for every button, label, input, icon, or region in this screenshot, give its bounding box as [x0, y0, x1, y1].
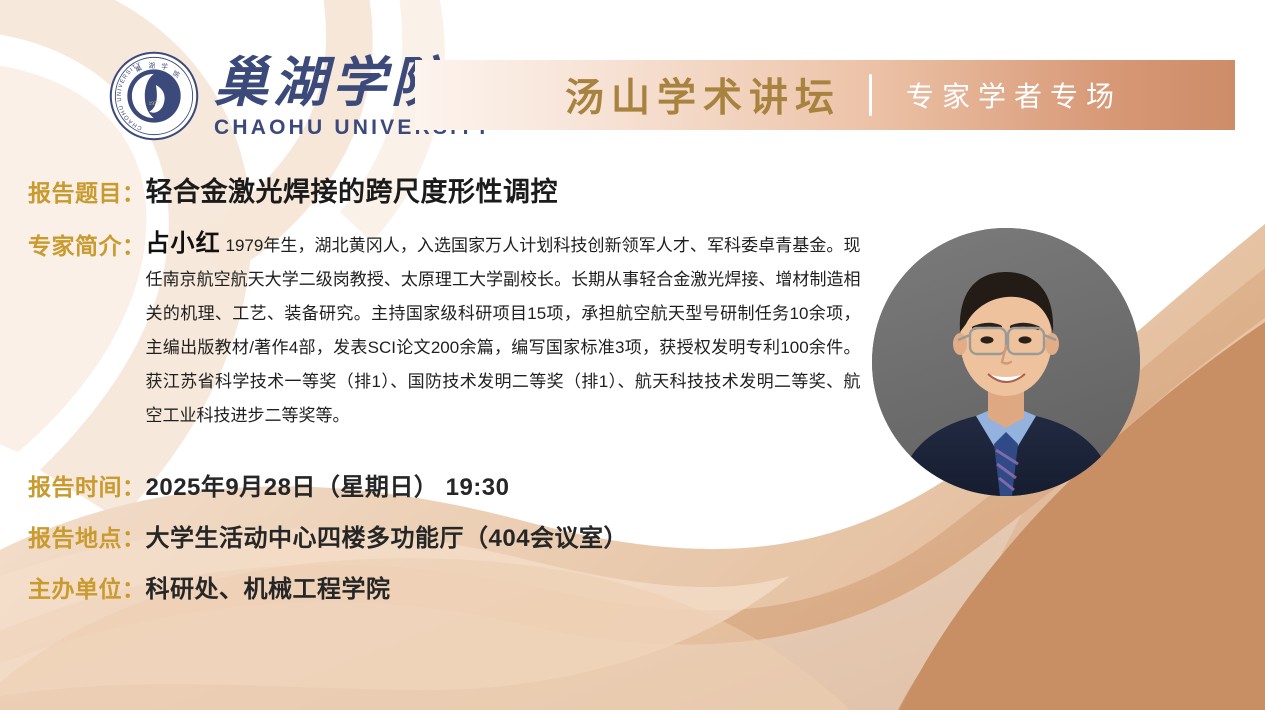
svg-text:学: 学 — [161, 61, 168, 70]
row-time: 报告时间： 2025年9月28日（星期日） 19:30 — [28, 467, 928, 502]
speaker-name: 占小红 — [146, 230, 221, 257]
speaker-portrait-illustration — [872, 228, 1140, 496]
bio-label: 专家简介： — [28, 227, 146, 261]
poster-content: 报告题目： 轻合金激光焊接的跨尺度形性调控 专家简介： 占小红 1979年生，湖… — [28, 170, 928, 604]
university-seal-icon: 1977 CHAOHU UNIVERSITY 巢 湖 学 院 — [108, 50, 200, 142]
title-label: 报告题目： — [28, 174, 146, 208]
host-label: 主办单位： — [28, 570, 146, 604]
forum-banner: 汤山学术讲坛 专家学者专场 — [415, 60, 1235, 130]
lecture-poster: 1977 CHAOHU UNIVERSITY 巢 湖 学 院 巢湖学院 CHAO… — [0, 0, 1265, 710]
banner-divider — [869, 74, 872, 116]
svg-text:1977: 1977 — [148, 101, 159, 107]
row-title: 报告题目： 轻合金激光焊接的跨尺度形性调控 — [28, 170, 928, 209]
time-label: 报告时间： — [28, 468, 146, 502]
bio-body: 占小红 1979年生，湖北黄冈人，入选国家万人计划科技创新领军人才、军科委卓青基… — [146, 227, 861, 433]
speaker-photo — [872, 228, 1140, 496]
place-label: 报告地点： — [28, 519, 146, 553]
row-bio: 专家简介： 占小红 1979年生，湖北黄冈人，入选国家万人计划科技创新领军人才、… — [28, 227, 928, 433]
host-value: 科研处、机械工程学院 — [146, 569, 391, 604]
row-host: 主办单位： 科研处、机械工程学院 — [28, 569, 928, 604]
forum-title: 汤山学术讲坛 — [565, 67, 841, 123]
poster-header: 1977 CHAOHU UNIVERSITY 巢 湖 学 院 巢湖学院 CHAO… — [0, 38, 1265, 148]
place-value: 大学生活动中心四楼多功能厅（404会议室） — [146, 518, 629, 553]
svg-text:湖: 湖 — [148, 60, 154, 69]
time-value: 2025年9月28日（星期日） 19:30 — [146, 467, 510, 502]
row-place: 报告地点： 大学生活动中心四楼多功能厅（404会议室） — [28, 518, 928, 553]
forum-subtitle: 专家学者专场 — [906, 75, 1122, 115]
title-value: 轻合金激光焊接的跨尺度形性调控 — [146, 170, 559, 209]
bio-text: 1979年生，湖北黄冈人，入选国家万人计划科技创新领军人才、军科委卓青基金。现任… — [146, 236, 861, 425]
